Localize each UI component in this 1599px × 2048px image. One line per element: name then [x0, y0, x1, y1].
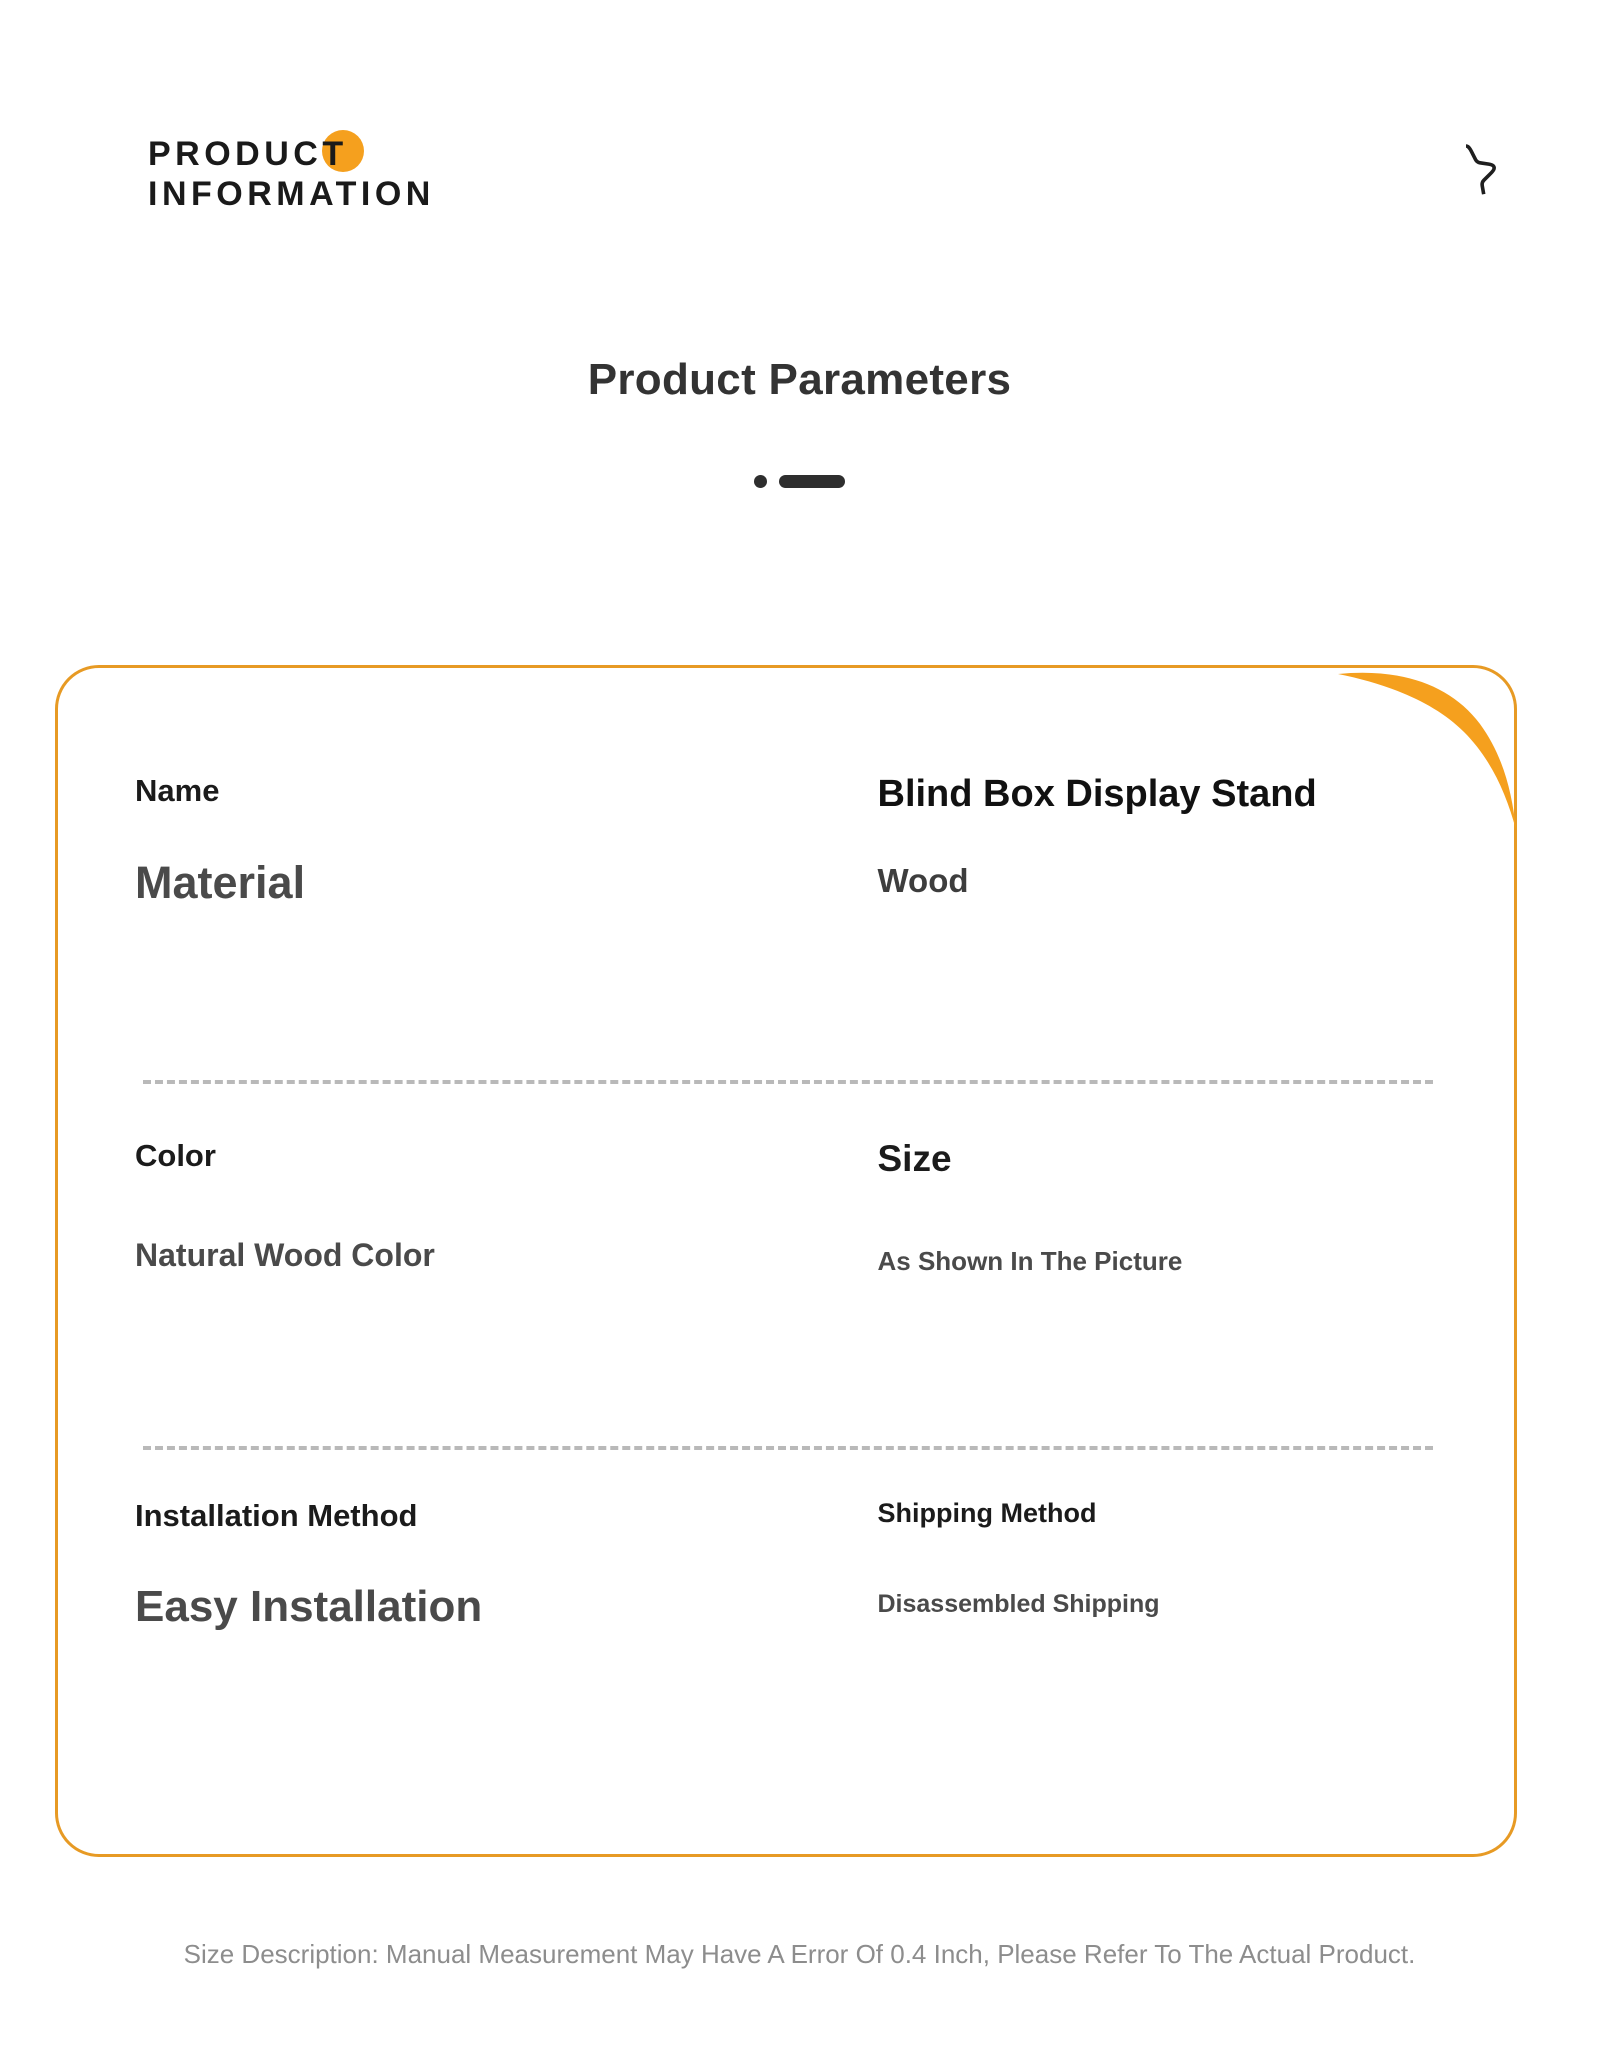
parameter-label: Shipping Method: [878, 1498, 1441, 1529]
parameter-value: Wood: [878, 862, 1441, 900]
star-icon[interactable]: [1431, 138, 1501, 208]
brand-logo: PRODUCT INFORMATION: [148, 138, 435, 211]
parameter-cell-left: Installation Method Easy Installation: [135, 1498, 788, 1632]
parameters-card-body: Name Material Blind Box Display Stand Wo…: [58, 668, 1514, 1854]
decoration-dot: [754, 475, 767, 488]
parameters-card: Name Material Blind Box Display Stand Wo…: [55, 665, 1517, 1857]
size-description-note: Size Description: Manual Measurement May…: [0, 1939, 1599, 1970]
parameter-value: Disassembled Shipping: [878, 1590, 1441, 1619]
page-header: PRODUCT INFORMATION: [0, 0, 1599, 260]
parameter-label: Name: [135, 773, 788, 809]
product-information-page: PRODUCT INFORMATION Product Parameters: [0, 0, 1599, 2048]
parameter-label: Blind Box Display Stand: [878, 773, 1441, 816]
parameter-cell-right: Shipping Method Disassembled Shipping: [788, 1498, 1441, 1632]
parameter-cell-right: Blind Box Display Stand Wood: [788, 773, 1441, 909]
section-title-block: Product Parameters: [0, 355, 1599, 488]
row-divider: [143, 1446, 1433, 1450]
title-decoration: [0, 475, 1599, 488]
page-title: Product Parameters: [0, 355, 1599, 405]
parameter-cell-left: Name Material: [135, 773, 788, 909]
parameter-value: As Shown In The Picture: [878, 1246, 1441, 1277]
parameter-value: Easy Installation: [135, 1582, 788, 1632]
parameter-label: Color: [135, 1138, 788, 1174]
parameter-row: Name Material Blind Box Display Stand Wo…: [135, 773, 1440, 909]
decoration-dash: [779, 475, 845, 488]
parameter-value: Material: [135, 857, 788, 909]
parameter-cell-left: Color Natural Wood Color: [135, 1138, 788, 1277]
parameter-value: Natural Wood Color: [135, 1237, 788, 1274]
row-divider: [143, 1080, 1433, 1084]
parameter-row: Installation Method Easy Installation Sh…: [135, 1498, 1440, 1632]
parameter-label: Size: [878, 1138, 1441, 1180]
parameter-label: Installation Method: [135, 1498, 788, 1534]
logo-line-product: PRODUCT: [148, 138, 435, 170]
logo-line-information: INFORMATION: [148, 178, 435, 210]
parameter-cell-right: Size As Shown In The Picture: [788, 1138, 1441, 1277]
parameter-row: Color Natural Wood Color Size As Shown I…: [135, 1138, 1440, 1277]
